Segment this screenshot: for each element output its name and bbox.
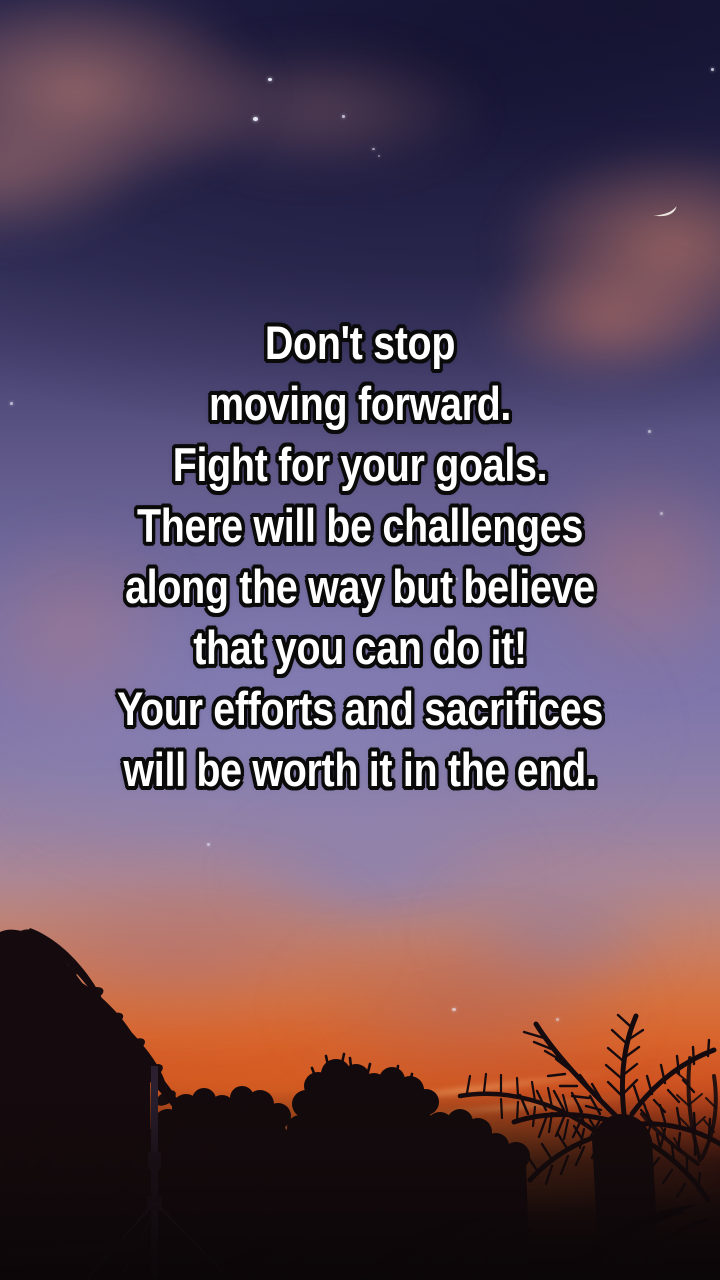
quote-text-block: Don't stop moving forward. Fight for you… <box>0 312 720 800</box>
star <box>556 1018 559 1021</box>
star <box>372 148 375 150</box>
quote-line: Your efforts and sacrifices <box>58 678 663 739</box>
quote-line: will be worth it in the end. <box>58 739 663 800</box>
star <box>253 117 258 121</box>
star <box>711 68 714 71</box>
quote-line: along the way but believe <box>58 556 663 617</box>
quote-line: moving forward. <box>58 373 663 434</box>
quote-line: Fight for your goals. <box>58 434 663 495</box>
star <box>452 1008 456 1011</box>
star <box>378 155 380 157</box>
star <box>207 843 210 846</box>
quote-line: that you can do it! <box>58 617 663 678</box>
quote-line: There will be challenges <box>58 495 663 556</box>
star <box>342 115 345 118</box>
star <box>268 78 272 81</box>
foreground-darkening <box>0 1090 720 1280</box>
quote-line: Don't stop <box>58 312 663 373</box>
quote-wallpaper: Don't stop moving forward. Fight for you… <box>0 0 720 1280</box>
